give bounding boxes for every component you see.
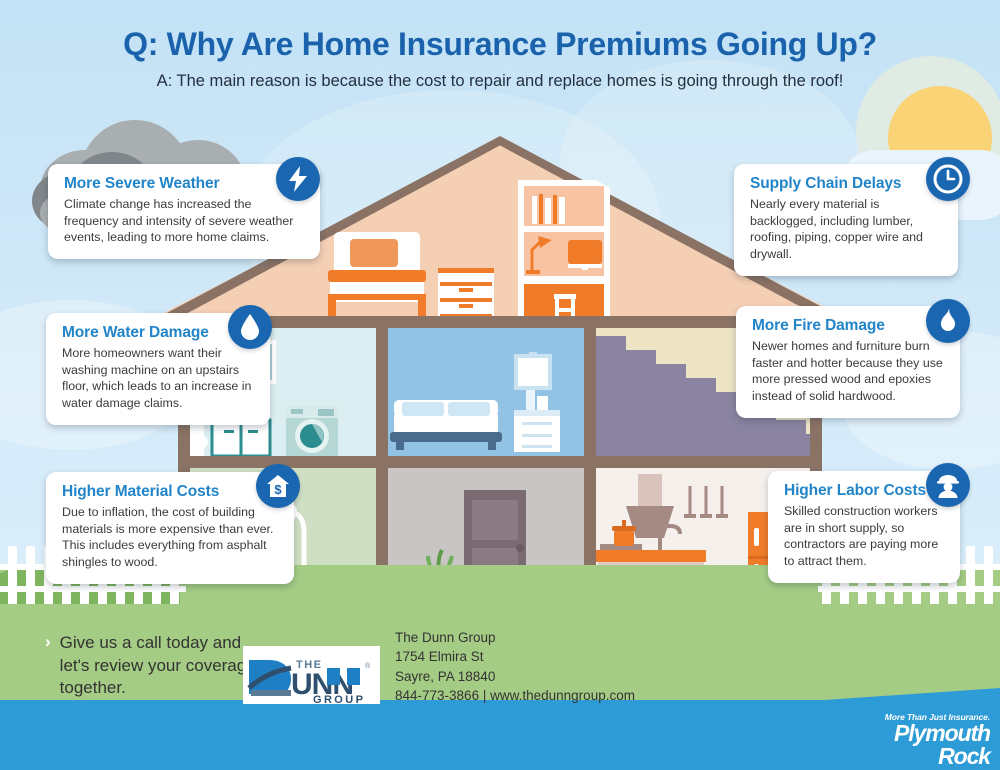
- callout-heading: Supply Chain Delays: [750, 175, 942, 193]
- house-dollar-icon: $: [256, 464, 300, 508]
- callout-body: Skilled construction workers are in shor…: [784, 503, 944, 570]
- callout-body: Climate change has increased the frequen…: [64, 196, 304, 246]
- website-link[interactable]: www.thedunngroup.com: [490, 688, 635, 703]
- infographic-canvas: Q: Why Are Home Insurance Premiums Going…: [0, 0, 1000, 770]
- logo-group: GROUP: [313, 694, 365, 704]
- callout-heading: More Water Damage: [62, 324, 254, 342]
- callout-body: More homeowners want their washing machi…: [62, 345, 254, 412]
- callout-heading: Higher Material Costs: [62, 483, 278, 501]
- address-phone-web: 844-773-3866 | www.thedunngroup.com: [395, 686, 635, 705]
- lightning-bolt-icon: [276, 157, 320, 201]
- dunn-group-logo[interactable]: THE UNN ® GROUP: [243, 646, 380, 704]
- callout-heading: Higher Labor Costs: [784, 482, 944, 500]
- clock-icon: [926, 157, 970, 201]
- plymouth-rock-logo: More Than Just Insurance. Plymouth Rock …: [840, 712, 990, 760]
- cta-block: › Give us a call today and let's review …: [45, 632, 260, 700]
- carrier-name: Plymouth Rock: [840, 722, 990, 769]
- logo-registered: ®: [365, 662, 371, 670]
- chevron-right-icon: ›: [45, 632, 51, 700]
- callout-body: Newer homes and furniture burn faster an…: [752, 338, 944, 405]
- callout-heading: More Severe Weather: [64, 175, 304, 193]
- phone-number[interactable]: 844-773-3866: [395, 688, 479, 703]
- flame-icon: [926, 299, 970, 343]
- address-city-state-zip: Sayre, PA 18840: [395, 667, 635, 686]
- room-bedroom: [388, 328, 584, 456]
- hardhat-worker-icon: [926, 463, 970, 507]
- callout-heading: More Fire Damage: [752, 317, 944, 335]
- cta-text: Give us a call today and let's review yo…: [60, 632, 260, 700]
- callout-body: Due to inflation, the cost of building m…: [62, 504, 278, 571]
- svg-text:$: $: [274, 482, 282, 497]
- address-company: The Dunn Group: [395, 628, 635, 647]
- address-street: 1754 Elmira St: [395, 647, 635, 666]
- page-title: Q: Why Are Home Insurance Premiums Going…: [0, 26, 1000, 63]
- separator: |: [483, 688, 487, 703]
- address-block: The Dunn Group 1754 Elmira St Sayre, PA …: [395, 628, 635, 706]
- water-drop-icon: [228, 305, 272, 349]
- page-subtitle: A: The main reason is because the cost t…: [0, 72, 1000, 91]
- callout-body: Nearly every material is backlogged, inc…: [750, 196, 942, 263]
- callout-supply-chain-delays[interactable]: Supply Chain Delays Nearly every materia…: [734, 164, 958, 276]
